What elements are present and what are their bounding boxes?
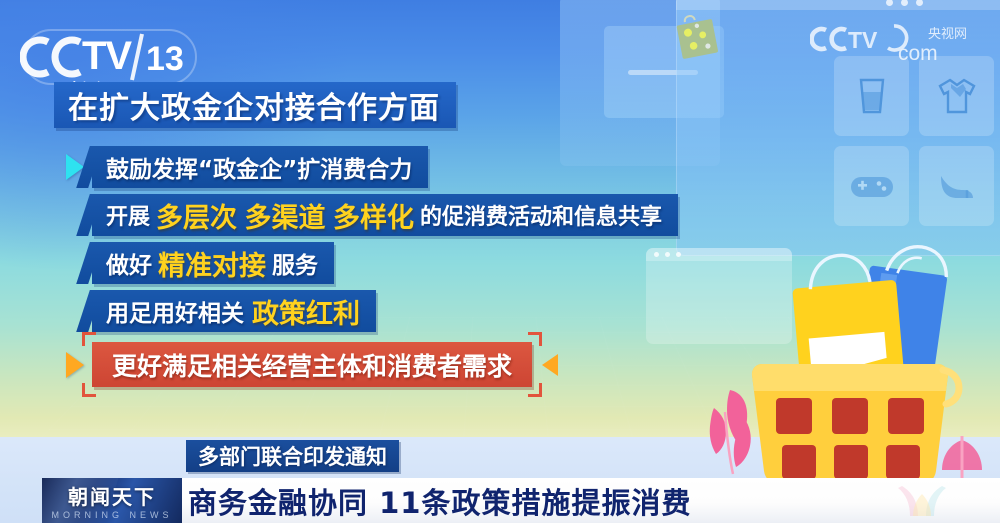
corner-bracket-icon <box>528 332 542 346</box>
subheadline-banner: 多部门联合印发通知 <box>186 440 399 472</box>
svg-text:TV: TV <box>848 27 878 53</box>
program-name-cn: 朝闻天下 <box>42 481 182 510</box>
bullet-text: 做好 <box>106 246 152 280</box>
broadcast-screen: TV 13 新闻 TV 央视网 com 在扩大政金企对接合作方面 鼓励发挥“政金… <box>0 0 1000 523</box>
svg-text:TV: TV <box>82 34 132 78</box>
corner-bracket-icon <box>82 332 96 346</box>
bullet-text: 鼓励发挥“政金企”扩消费合力 <box>106 150 412 184</box>
app-window-titlebar <box>676 0 1000 10</box>
cctv-com-watermark: TV 央视网 com <box>810 20 988 66</box>
bullet-emphasis: 精准对接 <box>158 244 266 283</box>
program-logo: 朝闻天下 MORNING NEWS <box>42 478 182 523</box>
bullet-text: 开展 <box>106 199 150 231</box>
highlight-frame: 更好满足相关经营主体和消费者需求 <box>92 342 532 387</box>
ticker-watermark-icon <box>882 480 992 522</box>
bullet-text: 用足用好相关 <box>106 294 244 328</box>
triangle-marker-icon <box>66 352 84 378</box>
bullet-row: 做好 精准对接 服务 <box>92 242 946 284</box>
bullet-banner: 鼓励发挥“政金企”扩消费合力 <box>92 146 428 188</box>
bullet-row: 鼓励发挥“政金企”扩消费合力 <box>66 146 946 188</box>
bullet-text: 的促消费活动和信息共享 <box>420 199 662 231</box>
bullet-banner: 用足用好相关 政策红利 <box>92 290 376 332</box>
triangle-marker-icon <box>542 354 558 376</box>
bullet-row-highlighted: 更好满足相关经营主体和消费者需求 <box>66 342 946 387</box>
bullet-text: 更好满足相关经营主体和消费者需求 <box>112 347 512 383</box>
svg-text:13: 13 <box>146 40 184 78</box>
svg-text:com: com <box>898 42 938 65</box>
bullet-banner: 做好 精准对接 服务 <box>92 242 334 284</box>
bullet-row: 用足用好相关 政策红利 <box>92 290 946 332</box>
headline-text: 在扩大政金企对接合作方面 <box>68 83 440 127</box>
bullet-banner: 开展 多层次 多渠道 多样化 的促消费活动和信息共享 <box>92 194 678 236</box>
corner-bracket-icon <box>528 383 542 397</box>
corner-bracket-icon <box>82 383 96 397</box>
polka-dot-bag-icon <box>672 10 722 63</box>
leaf-icon <box>942 436 982 482</box>
leaf-icon <box>710 390 751 474</box>
headline-banner: 在扩大政金企对接合作方面 <box>54 82 456 128</box>
bullet-list: 鼓励发挥“政金企”扩消费合力 开展 多层次 多渠道 多样化 的促消费活动和信息共… <box>66 146 946 393</box>
cup-icon <box>834 56 909 136</box>
bullet-banner-highlighted: 更好满足相关经营主体和消费者需求 <box>92 342 532 387</box>
bullet-emphasis: 政策红利 <box>252 292 360 331</box>
ticker-text: 商务金融协同 11条政策措施提振消费 <box>182 480 691 522</box>
bullet-emphasis: 多层次 多渠道 多样化 <box>156 196 414 235</box>
shirt-icon <box>919 56 994 136</box>
svg-text:央视网: 央视网 <box>928 27 967 42</box>
subheadline-text: 多部门联合印发通知 <box>198 441 387 471</box>
bullet-text: 服务 <box>272 246 318 280</box>
bullet-row: 开展 多层次 多渠道 多样化 的促消费活动和信息共享 <box>92 194 946 236</box>
news-ticker: 商务金融协同 11条政策措施提振消费 <box>182 478 1000 523</box>
program-name-en: MORNING NEWS <box>42 510 182 520</box>
